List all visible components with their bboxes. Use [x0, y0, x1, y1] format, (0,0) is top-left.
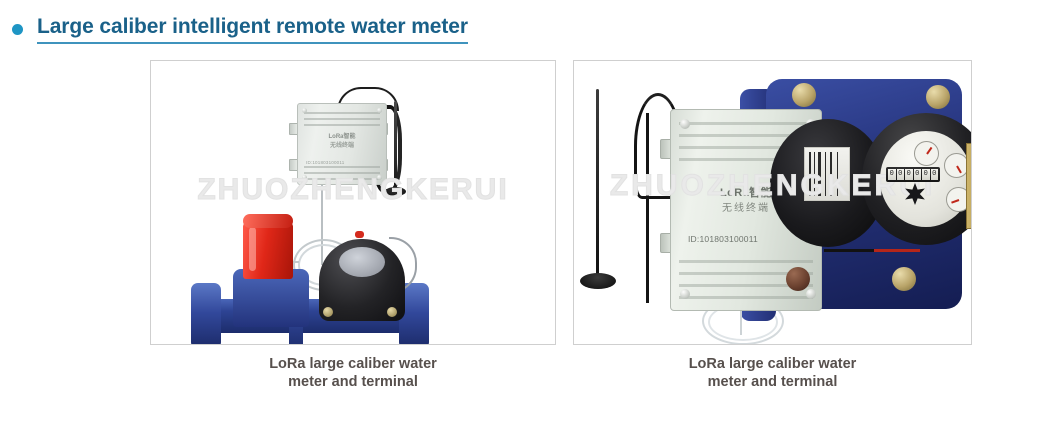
meter-serial-plate: 17060121	[966, 143, 971, 229]
register-digit: 0	[931, 169, 939, 180]
antenna-magnet-base	[580, 273, 616, 289]
image-caption-right: LoRa large caliber water meter and termi…	[573, 355, 972, 391]
product-photo-right: 0 0 0 0 0 0 17060121	[574, 61, 971, 344]
valve-cap	[243, 214, 293, 228]
antenna-magnet-base	[385, 187, 406, 196]
image-caption-left: LoRa large caliber water meter and termi…	[150, 355, 556, 391]
meter-sensor-wire	[874, 249, 920, 252]
sensor-cable	[740, 307, 742, 335]
terminal-id-label-right: ID:101803100011	[688, 234, 758, 244]
antenna-rod-icon	[596, 89, 599, 279]
meter-subdial	[914, 141, 939, 166]
valve-actuator	[243, 221, 293, 279]
lora-terminal-box-left: LoRa智能 无线终端 ID:101803100011	[297, 103, 387, 185]
caption-line-2: meter and terminal	[573, 373, 972, 391]
register-digit: 0	[897, 169, 905, 180]
register-digit: 0	[905, 169, 913, 180]
product-image-frame-left[interactable]: LoRa智能 无线终端 ID:101803100011	[150, 60, 556, 345]
terminal-id-label-left: ID:101803100011	[306, 160, 344, 165]
meter-flange	[191, 283, 221, 344]
terminal-brand2-label-left: 无线终端	[298, 143, 386, 150]
meter-dial	[339, 247, 385, 277]
meter-barcode-label	[804, 147, 850, 201]
register-digit: 0	[888, 169, 896, 180]
caption-line-1: LoRa large caliber water	[150, 355, 556, 373]
caption-line-2: meter and terminal	[150, 373, 556, 391]
register-digit: 0	[922, 169, 930, 180]
product-photo-left: LoRa智能 无线终端 ID:101803100011	[151, 61, 555, 344]
register-digit: 0	[914, 169, 922, 180]
meter-register-digits: 0 0 0 0 0 0	[886, 167, 940, 182]
terminal-brand-label-left: LoRa智能	[298, 134, 386, 141]
meter-indicator-dot	[355, 231, 364, 238]
caption-line-1: LoRa large caliber water	[573, 355, 972, 373]
product-image-frame-right[interactable]: 0 0 0 0 0 0 17060121	[573, 60, 972, 345]
antenna-rod-icon	[394, 101, 397, 193]
meter-sensor-wire	[824, 249, 880, 252]
